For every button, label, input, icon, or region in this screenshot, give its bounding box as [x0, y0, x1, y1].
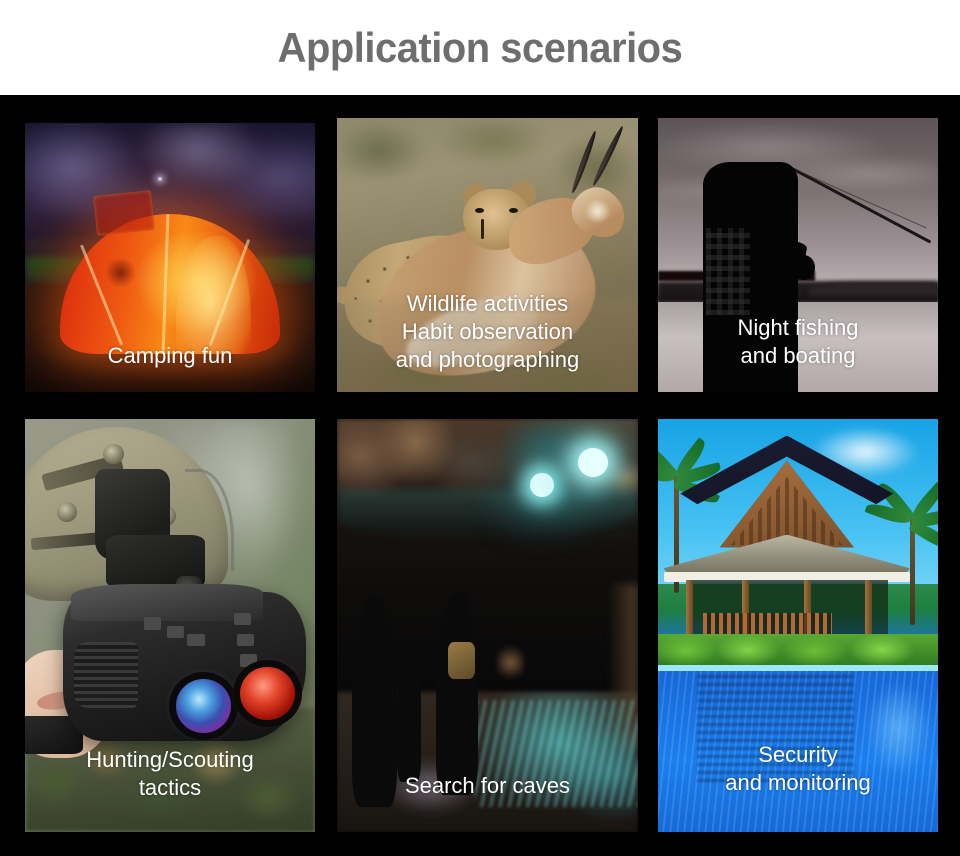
- scenario-grid: Camping fun: [0, 95, 960, 856]
- binoculars-button-5: [237, 634, 254, 646]
- binoculars-grip-fins: [74, 642, 138, 708]
- cave-lamp-2: [578, 448, 608, 477]
- page-title: Application scenarios: [278, 27, 683, 69]
- card-caption-hunting-scouting: Hunting/Scouting tactics: [25, 746, 315, 802]
- far-bank: [809, 282, 938, 296]
- plaid-shirt-pattern: [706, 228, 751, 316]
- scenario-card-hunting-scouting[interactable]: Hunting/Scouting tactics: [25, 419, 315, 832]
- card-caption-night-fishing: Night fishing and boating: [658, 314, 938, 370]
- cave-lamp-1: [530, 473, 554, 498]
- binoculars-button-3: [187, 634, 204, 646]
- card-caption-camping: Camping fun: [25, 342, 315, 370]
- helmet-screw-top: [103, 444, 123, 465]
- scenario-card-search-caves[interactable]: Search for caves: [337, 419, 638, 832]
- pavilion-column-1: [686, 580, 693, 638]
- scenario-card-camping[interactable]: Camping fun: [25, 123, 315, 392]
- search-caves-scene-image: [337, 419, 638, 832]
- page-header: Application scenarios: [0, 0, 960, 95]
- cave-mouth-lip: [337, 489, 638, 539]
- fishing-reel: [792, 255, 814, 280]
- application-scenarios-page: Application scenarios Camping fun: [0, 0, 960, 856]
- distant-explorer-glow: [497, 642, 524, 683]
- binoculars-button-1: [144, 617, 161, 629]
- card-caption-security-monitoring: Security and monitoring: [658, 741, 938, 797]
- binoculars-lens-blue: [176, 679, 231, 733]
- binoculars-button-2: [167, 626, 184, 638]
- binoculars-button-6: [240, 654, 257, 666]
- scenario-card-security-monitoring[interactable]: Security and monitoring: [658, 419, 938, 832]
- card-caption-search-caves: Search for caves: [337, 772, 638, 800]
- gazelle-face: [584, 200, 611, 222]
- explorer-silhouette-3: [397, 659, 421, 783]
- garden-hedge: [658, 634, 938, 667]
- scenario-card-wildlife[interactable]: Wildlife activities Habit observation an…: [337, 118, 638, 392]
- explorer-backpack: [448, 642, 475, 679]
- explorer-silhouette-2: [436, 605, 478, 795]
- binoculars-button-4: [234, 613, 251, 625]
- tent-logo: [103, 258, 138, 288]
- binoculars-lens-red: [240, 667, 295, 721]
- card-caption-wildlife: Wildlife activities Habit observation an…: [337, 290, 638, 374]
- pavilion-column-4: [865, 580, 872, 638]
- tent-window: [93, 190, 155, 236]
- scenario-card-night-fishing[interactable]: Night fishing and boating: [658, 118, 938, 392]
